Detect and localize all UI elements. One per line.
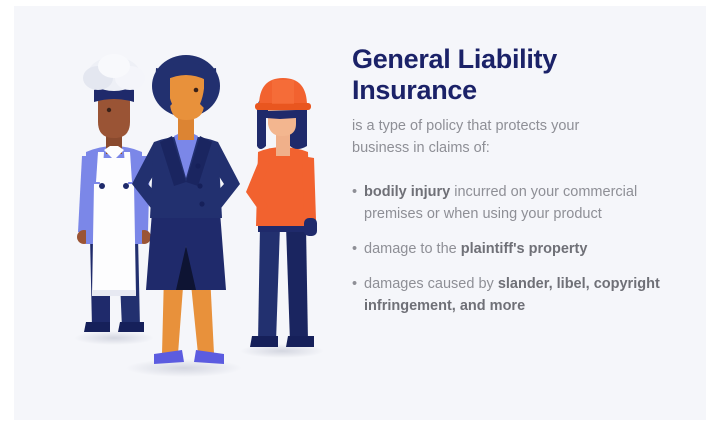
- bullet-rest: damages caused by: [364, 276, 498, 292]
- workers-illustration: [14, 6, 354, 420]
- worker-neck: [276, 134, 290, 156]
- businesswoman-button-1: [195, 163, 200, 168]
- infographic-card: General Liability Insurance is a type of…: [0, 0, 720, 431]
- chef-shoe-left: [84, 322, 110, 332]
- list-item: • damages caused by slander, libel, copy…: [352, 273, 682, 317]
- worker-top: [256, 147, 310, 226]
- worker-sunglasses: [266, 110, 296, 119]
- bullet-bold-lead: bodily injury: [364, 184, 450, 200]
- chef-apron-button-right: [123, 183, 129, 189]
- businesswoman-eye: [194, 88, 199, 93]
- businesswoman-shoe-left: [154, 350, 184, 364]
- bullet-rest: damage to the: [364, 241, 461, 257]
- shadow-businesswoman: [126, 359, 242, 377]
- bullet-icon: •: [352, 181, 357, 203]
- chef-apron-button-left: [99, 183, 105, 189]
- list-item: • bodily injury incurred on your commerc…: [352, 181, 682, 225]
- businesswoman-button-3: [199, 201, 204, 206]
- worker-glove-right: [304, 218, 317, 236]
- worker-shoe-left: [250, 336, 278, 347]
- chef-apron-hem: [92, 290, 136, 296]
- worker-leg-left: [258, 226, 280, 342]
- infographic-canvas: General Liability Insurance is a type of…: [14, 6, 706, 420]
- chef-eye: [107, 108, 111, 112]
- chef-toque: [83, 54, 145, 91]
- worker-shoe-right: [286, 336, 314, 347]
- chef-shoe-right: [118, 322, 144, 332]
- businesswoman-shoe-right: [194, 350, 224, 364]
- worker-arm-right: [302, 156, 316, 220]
- worker-leg-right: [286, 226, 308, 342]
- illustration: [14, 6, 354, 420]
- claims-list: • bodily injury incurred on your commerc…: [352, 181, 682, 317]
- text-column: General Liability Insurance is a type of…: [352, 44, 682, 330]
- bullet-icon: •: [352, 238, 357, 260]
- bullet-bold-tail: plaintiff's property: [461, 241, 588, 257]
- page-title: General Liability Insurance: [352, 44, 682, 106]
- shadow-chef: [74, 331, 154, 345]
- list-item: • damage to the plaintiff's property: [352, 238, 682, 260]
- worker-hard-hat: [255, 78, 311, 110]
- businesswoman-button-2: [197, 183, 202, 188]
- bullet-icon: •: [352, 273, 357, 295]
- lede-text: is a type of policy that protects your b…: [352, 115, 682, 159]
- figure-construction-worker: [246, 78, 317, 347]
